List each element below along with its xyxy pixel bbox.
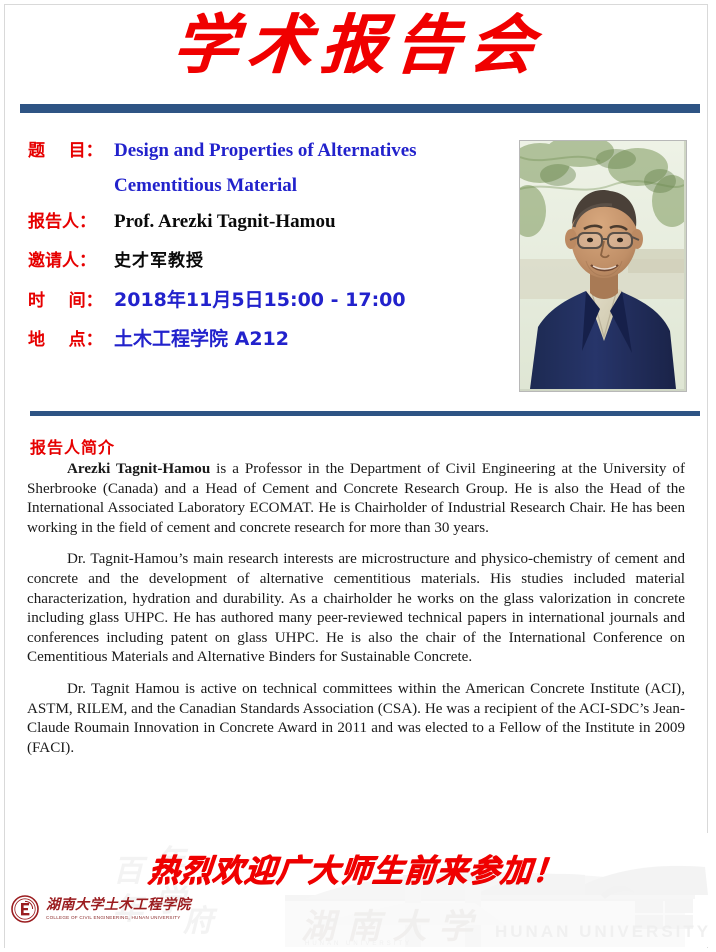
info-label-speaker: 报告人： <box>28 207 114 232</box>
seal-icon <box>11 895 39 923</box>
info-label-topic: 题 目： <box>28 136 114 161</box>
info-row-topic: 题 目： Design and Properties of Alternativ… <box>28 136 498 166</box>
info-value-speaker: Prof. Arezki Tagnit-Hamou <box>114 211 336 233</box>
logo-english-name: COLLEGE OF CIVIL ENGINEERING, HUNAN UNIV… <box>46 916 191 921</box>
info-label-location: 地 点： <box>28 325 114 350</box>
info-label-host: 邀请人： <box>28 246 114 271</box>
university-logo: 湖南大学土木工程学院 COLLEGE OF CIVIL ENGINEERING,… <box>11 895 191 923</box>
bio-paragraph-2: Dr. Tagnit-Hamou’s main research interes… <box>27 550 685 668</box>
info-value-location: 土木工程学院 A212 <box>114 324 289 351</box>
info-value-topic-line1: Design and Properties of Alternatives <box>114 140 417 162</box>
info-value-topic-line2: Cementitious Material <box>114 175 498 197</box>
info-value-host: 史才军教授 <box>114 246 204 271</box>
logo-chinese-name: 湖南大学土木工程学院 <box>46 898 191 912</box>
bio-lead-name: Arezki Tagnit-Hamou <box>67 461 210 477</box>
info-value-time: 2018年11月5日15:00 - 17:00 <box>114 285 406 312</box>
svg-text:HUNAN UNIVERSITY: HUNAN UNIVERSITY <box>495 922 708 941</box>
info-row-time: 时 间： 2018年11月5日15:00 - 17:00 <box>28 285 498 315</box>
bio-paragraph-1: Arezki Tagnit-Hamou is a Professor in th… <box>27 460 685 538</box>
bio-heading: 报告人简介 <box>30 434 115 458</box>
info-label-time: 时 间： <box>28 286 114 311</box>
poster-title-band: 学术报告会 <box>0 14 716 78</box>
poster-footer: 百 年 年 学 府 <box>5 833 708 947</box>
info-row-speaker: 报告人： Prof. Arezki Tagnit-Hamou <box>28 207 498 237</box>
bio-paragraph-3: Dr. Tagnit Hamou is active on technical … <box>27 680 685 758</box>
bio-body: Arezki Tagnit-Hamou is a Professor in th… <box>27 460 685 758</box>
header-divider-rule <box>20 104 700 113</box>
section-divider-rule <box>30 411 700 416</box>
speaker-photo <box>519 140 687 392</box>
event-info-block: 题 目： Design and Properties of Alternativ… <box>28 136 498 363</box>
svg-text:COLLEGE OF CIVIL ENGINEERING: COLLEGE OF CIVIL ENGINEERING <box>301 944 667 947</box>
welcome-message: 热烈欢迎广大师生前来参加！ <box>5 845 708 890</box>
page-title: 学术报告会 <box>171 14 545 78</box>
info-row-location: 地 点： 土木工程学院 A212 <box>28 324 498 354</box>
logo-text-group: 湖南大学土木工程学院 COLLEGE OF CIVIL ENGINEERING,… <box>46 898 191 921</box>
info-row-host: 邀请人： 史才军教授 <box>28 246 498 276</box>
speaker-portrait-image <box>520 141 684 389</box>
seminar-poster: 学术报告会 题 目： Design and Properties of Alte… <box>0 0 716 952</box>
